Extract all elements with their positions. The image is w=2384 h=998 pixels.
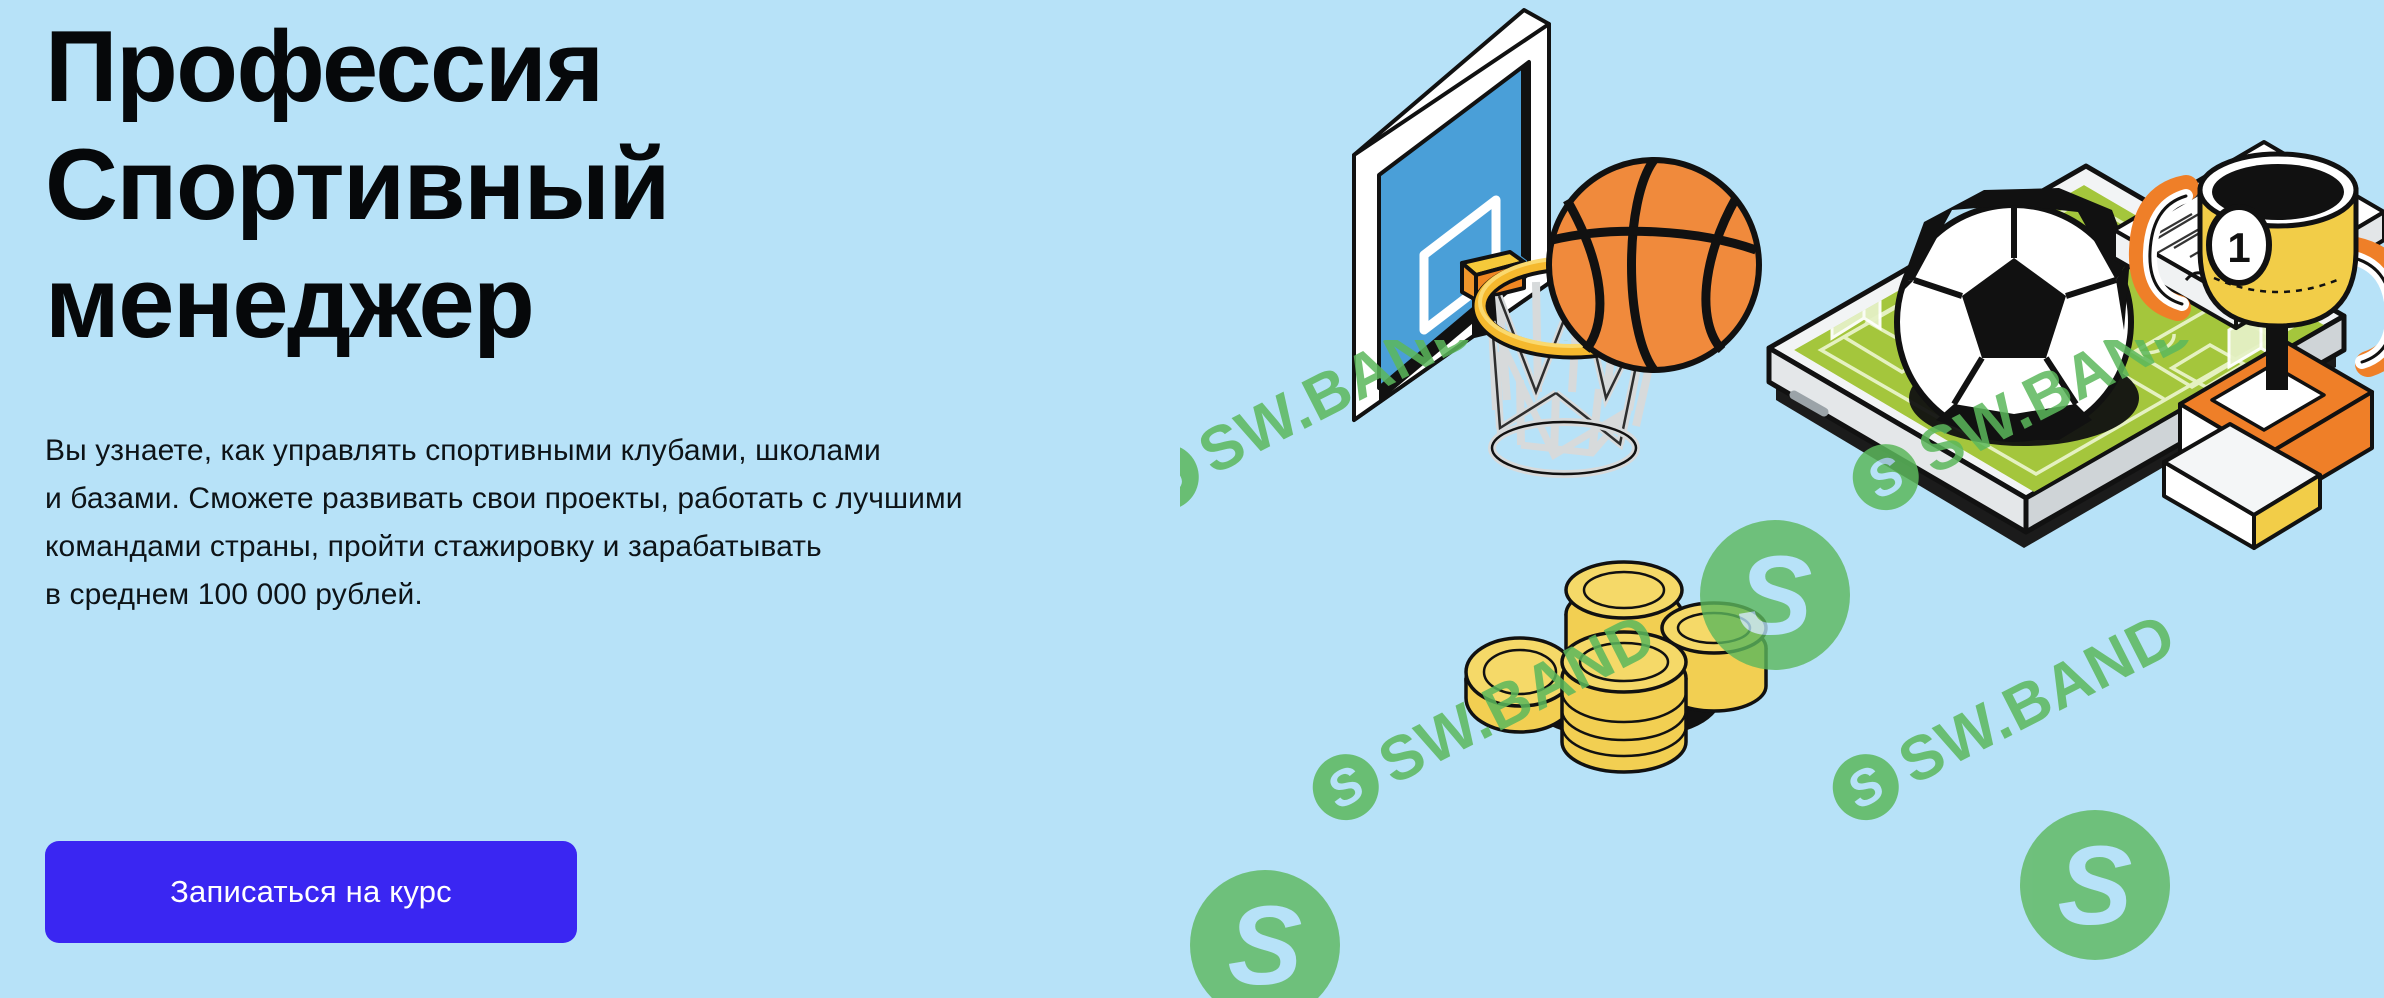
gold-coin-stacks: [1466, 562, 1766, 772]
page-title: Профессия Спортивный менеджер: [45, 8, 669, 362]
enroll-course-button[interactable]: Записаться на курс: [45, 841, 577, 943]
trophy-rank-number: 1: [2227, 224, 2250, 271]
hero-landing-page: 1: [0, 0, 2384, 998]
hero-description: Вы узнаете, как управлять спортивными кл…: [45, 427, 963, 619]
hero-text-column: Профессия Спортивный менеджер Вы узнаете…: [45, 0, 1295, 998]
soccer-ball: [1897, 188, 2131, 440]
basketball-ball: [1549, 160, 1759, 370]
sport-management-illustration: 1: [1324, 0, 2384, 998]
